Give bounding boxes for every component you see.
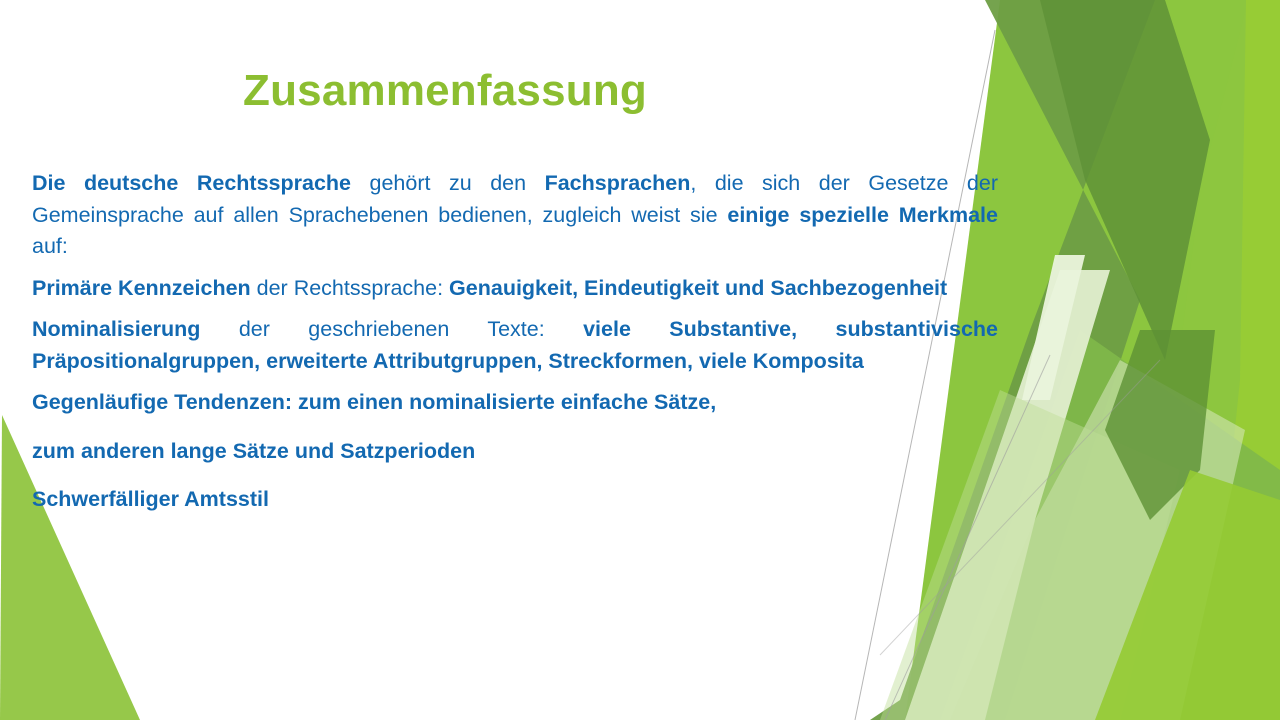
text-run: der Rechtssprache:	[251, 276, 449, 300]
paragraph-2: Primäre Kennzeichen der Rechtssprache: G…	[32, 273, 998, 305]
text-run: Fachsprachen	[545, 171, 691, 195]
text-run: zum anderen lange Sätze und Satzperioden	[32, 439, 475, 463]
body-text-block: Die deutsche Rechtssprache gehört zu den…	[32, 168, 998, 516]
paragraph-3: Nominalisierung der geschriebenen Texte:…	[32, 314, 998, 377]
text-run: Gegenläufige Tendenzen: zum einen nomina…	[32, 390, 716, 414]
text-run: der geschriebenen Texte:	[200, 317, 583, 341]
text-run: Genauigkeit, Eindeutigkeit und Sachbezog…	[449, 276, 947, 300]
text-run: Die deutsche Rechtssprache	[32, 171, 351, 195]
paragraph-4: Gegenläufige Tendenzen: zum einen nomina…	[32, 387, 998, 419]
text-run: Nominalisierung	[32, 317, 200, 341]
slide-title: Zusammenfassung	[243, 66, 647, 116]
text-run: auf:	[32, 234, 68, 258]
paragraph-6: Schwerfälliger Amtsstil	[32, 484, 998, 516]
slide-canvas: Zusammenfassung Die deutsche Rechtssprac…	[0, 0, 1280, 720]
text-run: Schwerfälliger Amtsstil	[32, 487, 269, 511]
text-run: Primäre Kennzeichen	[32, 276, 251, 300]
paragraph-1: Die deutsche Rechtssprache gehört zu den…	[32, 168, 998, 263]
slide-content: Zusammenfassung Die deutsche Rechtssprac…	[0, 0, 1280, 720]
text-run: gehört zu den	[351, 171, 545, 195]
text-run: einige spezielle Merkmale	[727, 203, 998, 227]
paragraph-5: zum anderen lange Sätze und Satzperioden	[32, 436, 998, 468]
